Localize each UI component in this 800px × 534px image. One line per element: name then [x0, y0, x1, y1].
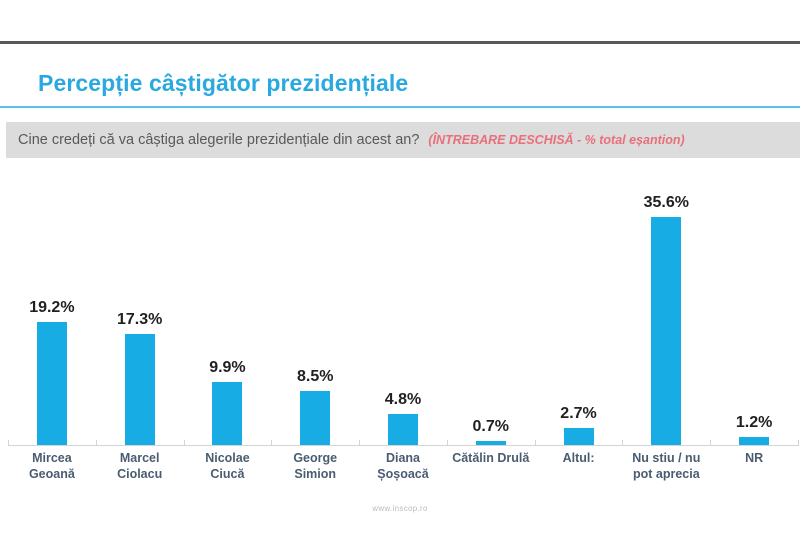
title-underline	[0, 106, 800, 108]
bar-slot: 35.6%	[622, 164, 710, 445]
bar-slot: 1.2%	[710, 164, 798, 445]
slide: Percepție câștigător prezidențiale Cine …	[0, 44, 800, 534]
bar[interactable]	[125, 334, 155, 445]
bar-slot: 2.7%	[535, 164, 623, 445]
bar-value-label: 19.2%	[29, 299, 74, 317]
bar-value-label: 2.7%	[560, 405, 596, 423]
category-label: GeorgeSimion	[271, 450, 359, 482]
bar[interactable]	[37, 322, 67, 445]
bar[interactable]	[300, 391, 330, 445]
bar[interactable]	[739, 437, 769, 445]
category-label: Nu stiu / nupot aprecia	[622, 450, 710, 482]
axis-baseline	[8, 445, 798, 446]
bar-value-label: 17.3%	[117, 311, 162, 329]
bar-value-label: 9.9%	[209, 359, 245, 377]
category-label: MirceaGeoană	[8, 450, 96, 482]
bar[interactable]	[564, 428, 594, 445]
category-label: DianaȘoșoacă	[359, 450, 447, 482]
axis-tick	[798, 440, 799, 446]
bar-value-label: 4.8%	[385, 391, 421, 409]
category-label: Altul:	[535, 450, 623, 466]
bar-value-label: 0.7%	[473, 418, 509, 436]
bar-slot: 19.2%	[8, 164, 96, 445]
page-title: Percepție câștigător prezidențiale	[38, 70, 408, 97]
category-label: MarcelCiolacu	[96, 450, 184, 482]
question-note: (ÎNTREBARE DESCHISĂ - % total eșantion)	[428, 133, 684, 147]
question-band: Cine credeți că va câștiga alegerile pre…	[6, 122, 800, 158]
bar-slot: 4.8%	[359, 164, 447, 445]
bar-chart-plot-area: 19.2%17.3%9.9%8.5%4.8%0.7%2.7%35.6%1.2%	[0, 164, 800, 446]
bar-value-label: 8.5%	[297, 368, 333, 386]
bar-value-label: 35.6%	[644, 194, 689, 212]
bar-slot: 9.9%	[184, 164, 272, 445]
bar[interactable]	[651, 217, 681, 445]
bar[interactable]	[388, 414, 418, 445]
bar-slot: 0.7%	[447, 164, 535, 445]
question-text: Cine credeți că va câștiga alegerile pre…	[18, 132, 419, 148]
category-label: Cătălin Drulă	[447, 450, 535, 466]
bar-value-label: 1.2%	[736, 414, 772, 432]
bar-slot: 8.5%	[271, 164, 359, 445]
category-label: NicolaeCiucă	[184, 450, 272, 482]
bar-slot: 17.3%	[96, 164, 184, 445]
category-label: NR	[710, 450, 798, 466]
category-axis-labels: MirceaGeoanăMarcelCiolacuNicolaeCiucăGeo…	[0, 450, 800, 498]
watermark: www.inscop.ro	[0, 504, 800, 513]
bar[interactable]	[212, 382, 242, 445]
